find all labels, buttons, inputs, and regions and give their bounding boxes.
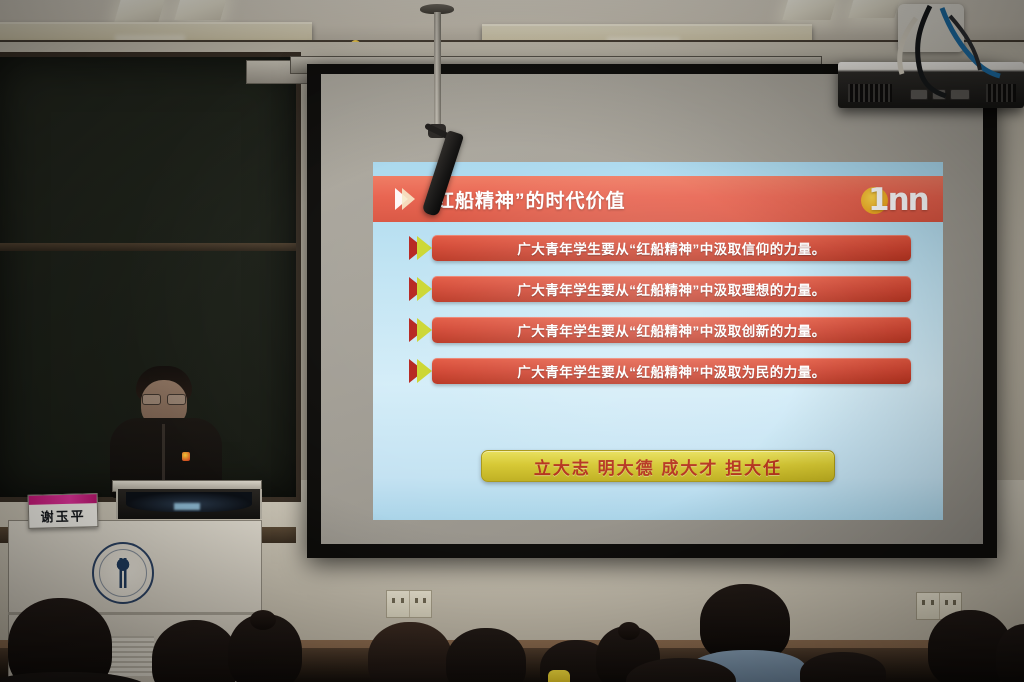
- projection-screen-surface: 红船精神”的时代价值 1nn 广大青年学生要从“红船精神”中汲取信仰的力量。: [321, 74, 983, 544]
- audience-head: [446, 628, 526, 682]
- bullet-chevron-icon: [409, 236, 425, 260]
- bullet-text: 广大青年学生要从“红船精神”中汲取创新的力量。: [517, 320, 826, 340]
- slide-logo: 1nn: [861, 184, 927, 218]
- lectern-screen-glow: [174, 503, 200, 510]
- bullet-text: 广大青年学生要从“红船精神”中汲取为民的力量。: [517, 361, 826, 381]
- bullet-pill: 广大青年学生要从“红船精神”中汲取创新的力量。: [432, 317, 911, 343]
- audience-hair-bun: [250, 610, 276, 630]
- presenter-glasses: [142, 394, 186, 403]
- speaker-nameplate: 谢玉平: [28, 493, 99, 529]
- slide-bullet-list: 广大青年学生要从“红船精神”中汲取信仰的力量。 广大青年学生要从“红船精神”中汲…: [373, 234, 943, 398]
- bullet-chevron-icon: [409, 318, 425, 342]
- bullet-chevron-icon: [409, 359, 425, 383]
- slide-title-bar: 红船精神”的时代价值 1nn: [373, 176, 943, 222]
- presenter: [104, 366, 234, 496]
- audience-hair-bun: [618, 622, 640, 640]
- logo-wordmark: 1nn: [868, 184, 928, 218]
- projector-cables: [880, 0, 1024, 110]
- wall-power-outlet[interactable]: [386, 590, 432, 618]
- audience-head: [368, 622, 452, 682]
- blackboard-divider-rail: [0, 243, 296, 251]
- bullet-pill: 广大青年学生要从“红船精神”中汲取信仰的力量。: [432, 235, 911, 261]
- presenter-shirt-placket: [162, 424, 165, 486]
- podium-vent: [108, 636, 154, 676]
- lecture-hall-photo: 红船精神”的时代价值 1nn 广大青年学生要从“红船精神”中汲取信仰的力量。: [0, 0, 1024, 682]
- microphone-pole: [434, 12, 441, 130]
- bullet-text: 广大青年学生要从“红船精神”中汲取理想的力量。: [517, 279, 826, 299]
- presentation-slide: 红船精神”的时代价值 1nn 广大青年学生要从“红船精神”中汲取信仰的力量。: [373, 162, 943, 520]
- slide-banner-text: 立大志 明大德 成大才 担大任: [534, 454, 782, 479]
- ceiling-light: [114, 0, 165, 22]
- slide-footer-banner: 立大志 明大德 成大才 担大任: [481, 450, 835, 482]
- bullet-text: 广大青年学生要从“红船精神”中汲取信仰的力量。: [517, 238, 826, 258]
- presenter-lapel-badge: [182, 452, 190, 461]
- bullet-pill: 广大青年学生要从“红船精神”中汲取为民的力量。: [432, 358, 911, 384]
- bullet-chevron-icon: [409, 277, 425, 301]
- bullet-pill: 广大青年学生要从“红船精神”中汲取理想的力量。: [432, 276, 911, 302]
- ceiling-light: [174, 0, 227, 20]
- ceiling-light: [782, 0, 837, 20]
- slide-bullet-item: 广大青年学生要从“红船精神”中汲取创新的力量。: [409, 316, 943, 343]
- university-emblem-icon: [92, 542, 154, 604]
- audience-head: [8, 598, 112, 682]
- audience-yellow-item: [548, 670, 570, 682]
- slide-bullet-item: 广大青年学生要从“红船精神”中汲取为民的力量。: [409, 357, 943, 384]
- slide-bullet-item: 广大青年学生要从“红船精神”中汲取信仰的力量。: [409, 234, 943, 261]
- nameplate-text: 谢玉平: [29, 503, 98, 528]
- slide-title: 红船精神”的时代价值: [435, 186, 626, 213]
- title-chevron-icon: [395, 188, 409, 210]
- projection-screen-frame: 红船精神”的时代价值 1nn 广大青年学生要从“红船精神”中汲取信仰的力量。: [307, 64, 997, 558]
- slide-bullet-item: 广大青年学生要从“红船精神”中汲取理想的力量。: [409, 275, 943, 302]
